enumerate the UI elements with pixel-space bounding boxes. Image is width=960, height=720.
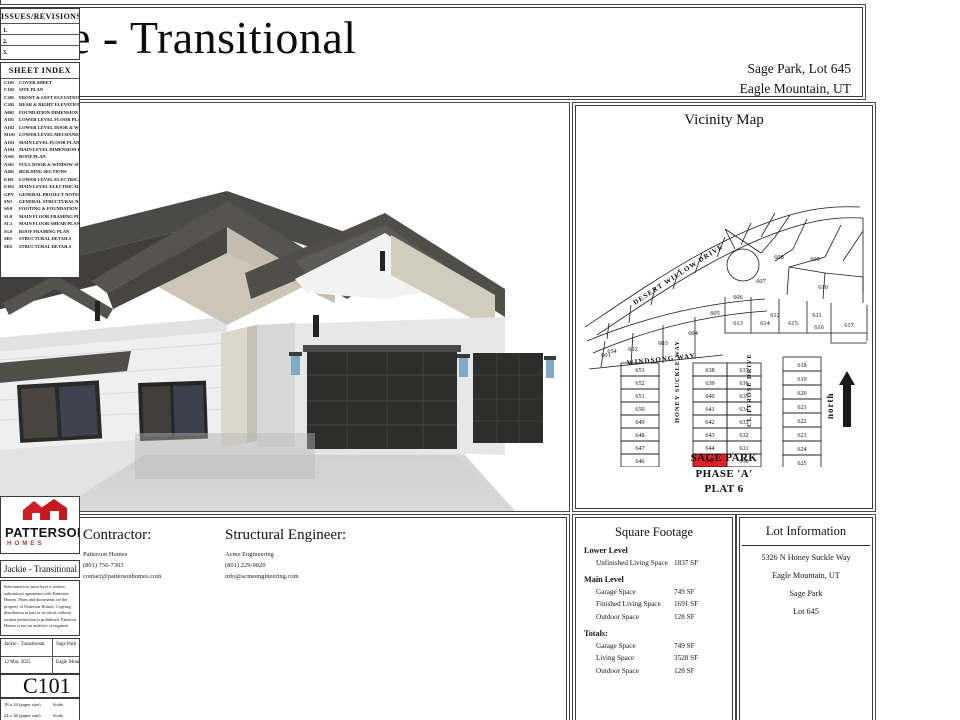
house-logo-icon — [7, 498, 79, 528]
sheet-index-name: SITE PLAN — [19, 86, 43, 93]
contractor-name: Patterson Homes — [83, 549, 161, 560]
lot-606: 606 — [733, 294, 743, 301]
lot-638: 638 — [705, 367, 714, 374]
sheet-index-rows: C101COVER SHEETC102SITE PLANC201FRONT & … — [1, 79, 79, 250]
lot-615: 615 — [788, 320, 798, 327]
sheet-index-row[interactable]: A301ROOF PLAN — [1, 153, 79, 160]
plan-name-box: Jackie - Transitional — [0, 560, 80, 578]
sqft-group-heading: Totals: — [584, 629, 726, 638]
sheet-index-code: C101 — [4, 79, 19, 86]
exterior-rendering-pane — [0, 102, 570, 512]
sheet-index-code: A401 — [4, 168, 19, 175]
street-label-honey-suckle: HONEY SUCKLE WAY — [674, 340, 681, 423]
sheet-index-name: MAIN LEVEL FLOOR PLAN — [19, 139, 79, 146]
lot-604: 604 — [688, 330, 698, 337]
sheet-index-name: MAIN LEVEL DIMENSION PLAN — [19, 146, 79, 153]
lot-information-pane: Lot Information 5326 N Honey Suckle WayE… — [736, 514, 876, 720]
lot-602: 602 — [628, 346, 638, 353]
engineer-name: Acme Engineering — [225, 549, 346, 560]
sqft-group-heading: Main Level — [584, 575, 726, 584]
meta-plan-label: Jackie - Transitional — [1, 639, 53, 656]
disclaimer-box: Subcontractors must have a writtensubcon… — [0, 580, 80, 636]
sheet-index-name: STRUCTURAL DETAILS — [19, 235, 71, 242]
sqft-row-label: Outdoor Space — [596, 666, 674, 678]
sqft-row-value: 3528 SF — [674, 653, 698, 665]
logo-wordmark: PATTERSON — [5, 525, 79, 540]
sheet-index-code: GPN — [4, 191, 19, 198]
sheet-index-row[interactable]: A101LOWER LEVEL FLOOR PLAN — [1, 116, 79, 123]
sqft-row: Living Space3528 SF — [596, 653, 726, 665]
paper-2-value: Scale — [53, 713, 63, 718]
street-label-cliffrose: CLIFFROSE DRIVE — [746, 353, 753, 427]
sheet-index-code: E102 — [4, 183, 19, 190]
sheet-index-row[interactable]: A104MAIN LEVEL DIMENSION PLAN — [1, 146, 79, 153]
sheet-index-name: LOWER LEVEL ELECTRICAL PLAN — [19, 176, 79, 183]
lot-info-line: 5326 N Honey Suckle Way — [737, 553, 875, 562]
plat-caption: SAGE PARK PHASE 'A' PLAT 6 — [573, 451, 875, 497]
engineer-phone: (801) 229-9020 — [225, 560, 346, 571]
house-rendering — [0, 103, 569, 511]
sqft-row-label: Unfinished Living Space — [596, 558, 674, 570]
lot-611: 611 — [812, 312, 821, 319]
sqft-row-label: Garage Space — [596, 587, 674, 599]
engineer-block: Structural Engineer: Acme Engineering (8… — [225, 527, 346, 582]
patterson-homes-logo: PATTERSON HOMES — [0, 496, 80, 554]
plat-caption-line3: PLAT 6 — [573, 482, 875, 497]
lot-info-line: Sage Park — [737, 589, 875, 598]
sheet-index-code: A361 — [4, 161, 19, 168]
revision-row[interactable]: 2. — [1, 34, 79, 45]
sheet-index-row[interactable]: E101LOWER LEVEL ELECTRICAL PLAN — [1, 176, 79, 183]
title-banner: Jackie - Transitional Sage Park, Lot 645… — [0, 4, 866, 100]
logo-submark: HOMES — [7, 540, 45, 547]
sheet-index-code: A001 — [4, 109, 19, 116]
sheet-index-row[interactable]: S1.1MAIN FLOOR SHEAR PLAN — [1, 220, 79, 227]
lot-608: 608 — [774, 254, 784, 261]
lot-634: 634 — [739, 406, 748, 413]
lot-603: 603 — [658, 340, 668, 347]
sheet-index-code: S0.0 — [4, 205, 19, 212]
sheet-number: C101 — [1, 675, 79, 697]
sqft-row-value: 749 SF — [674, 587, 695, 599]
sheet-index-name: MAIN FLOOR FRAMING PLAN — [19, 213, 79, 220]
sheet-index-code: S1.0 — [4, 213, 19, 220]
lot-633: 633 — [739, 419, 748, 426]
title-address: Sage Park, Lot 645 Eagle Mountain, UT — [740, 59, 851, 98]
issues-revisions-heading: ISSUES/REVISIONS — [1, 9, 79, 23]
disclaimer-line: distribution in part or in whole without — [4, 610, 76, 617]
sheet-index-row[interactable]: A401BUILDING SECTIONS — [1, 168, 79, 175]
lot-609: 609 — [810, 256, 820, 263]
sheet-index-name: GENERAL PROJECT NOTES — [19, 191, 79, 198]
sheet-index-row[interactable]: E102MAIN LEVEL ELECTRICAL PLAN — [1, 183, 79, 190]
sqft-row-label: Finished Living Space — [596, 599, 674, 611]
sheet-index-name: COVER SHEET — [19, 79, 52, 86]
contractor-email[interactable]: contact@pattersonhomes.com — [83, 571, 161, 582]
sheet-index-name: LOWER LEVEL FLOOR PLAN — [19, 116, 79, 123]
sheet-index-code: C102 — [4, 86, 19, 93]
lot-information-body: 5326 N Honey Suckle WayEagle Mountain, U… — [737, 553, 875, 616]
plat-caption-line1: SAGE PARK — [573, 451, 875, 466]
revision-number: 1. — [3, 28, 8, 34]
sqft-row-label: Garage Space — [596, 641, 674, 653]
title-address-line1: Sage Park, Lot 645 — [740, 59, 851, 79]
paper-size-box: 18 x 24 (paper size) Scale 24 x 36 (pape… — [0, 698, 80, 720]
sqft-row-value: 1837 SF — [674, 558, 698, 570]
disclaimer-line: Homes. Plans and documents are the — [4, 597, 76, 604]
revision-row[interactable]: 3. — [1, 45, 79, 56]
square-footage-pane: Square Footage Lower LevelUnfinished Liv… — [572, 514, 736, 720]
sheet-index-name: GENERAL STRUCTURAL NOTES — [19, 198, 79, 205]
sheet-index-code: SN1 — [4, 198, 19, 205]
paper-1-label: 18 x 24 (paper size) — [1, 702, 53, 707]
title-address-line2: Eagle Mountain, UT — [740, 79, 851, 99]
sheet-index-row[interactable]: GPNGENERAL PROJECT NOTES — [1, 191, 79, 198]
sheet-index-code: A104 — [4, 146, 19, 153]
sqft-row-value: 128 SF — [674, 666, 695, 678]
sqft-row: Garage Space749 SF — [596, 587, 726, 599]
engineer-heading: Structural Engineer: — [225, 527, 346, 544]
sheet-index-code: C202 — [4, 101, 19, 108]
sheet-index-code: A101 — [4, 116, 19, 123]
sheet-index-name: REAR & RIGHT ELEVATIONS — [19, 101, 79, 108]
street-label-windsong: WINDSONG WAY — [626, 352, 695, 367]
sqft-row-value: 128 SF — [674, 612, 695, 624]
engineer-email[interactable]: info@acmeengineering.com — [225, 571, 346, 582]
square-footage-body: Lower LevelUnfinished Living Space1837 S… — [582, 546, 726, 678]
sheet-index-row[interactable]: C102SITE PLAN — [1, 86, 79, 93]
paper-row-2: 24 x 36 (paper size) Scale — [1, 710, 79, 720]
sheet-index-code: M101 — [4, 131, 19, 138]
contacts-pane: Contractor: Patterson Homes (801) 756-73… — [0, 514, 570, 720]
lot-619: 619 — [797, 376, 806, 383]
sheet-index-code: A301 — [4, 153, 19, 160]
lot-653: 653 — [635, 367, 644, 374]
sheet-index-name: FRONT & LEFT ELEVATIONS — [19, 94, 79, 101]
sheet-index-row[interactable]: A102LOWER LEVEL DOOR & WINDOW — [1, 124, 79, 131]
sqft-group-heading: Lower Level — [584, 546, 726, 555]
lot-612: 612 — [770, 312, 780, 319]
lot-651: 651 — [635, 393, 644, 400]
sheet-index-row[interactable]: A361FULL DOOR & WINDOW SCHEDULE — [1, 161, 79, 168]
paper-2-label: 24 x 36 (paper size) — [1, 713, 53, 718]
north-label: north — [825, 392, 835, 419]
lot-649: 649 — [635, 419, 644, 426]
sheet-index-row[interactable]: SN1GENERAL STRUCTURAL NOTES — [1, 198, 79, 205]
sheet-index-code: SD1 — [4, 235, 19, 242]
issues-revisions-box: ISSUES/REVISIONS 1.2.3. — [0, 8, 80, 60]
lot-632: 632 — [739, 432, 748, 439]
lot-information-title: Lot Information — [742, 524, 870, 546]
sheet-index-name: ROOF FRAMING PLAN — [19, 228, 69, 235]
sheet-index-name: ROOF PLAN — [19, 153, 46, 160]
lot-637: 637 — [739, 367, 748, 374]
sqft-row: Outdoor Space128 SF — [596, 612, 726, 624]
plat-map: DESERT WILLOW DRIVE WINDSONG WAY HONEY S… — [575, 127, 875, 467]
sheet-index-code: A102 — [4, 124, 19, 131]
sheet-index-name: STRUCTURAL DETAILS — [19, 243, 71, 250]
lot-652: 652 — [635, 380, 644, 387]
sheet-meta-box: Jackie - Transitional Sage Park 12 May 2… — [0, 638, 80, 674]
contractor-heading: Contractor: — [83, 527, 161, 544]
meta-date: 12 May 2025 — [1, 657, 53, 674]
north-arrow: north — [825, 371, 855, 427]
sheet-index-row[interactable]: A103MAIN LEVEL FLOOR PLAN — [1, 139, 79, 146]
sheet-index-name: MAIN LEVEL ELECTRICAL PLAN — [19, 183, 79, 190]
sqft-row: Unfinished Living Space1837 SF — [596, 558, 726, 570]
sheet-index-row[interactable]: S3.0ROOF FRAMING PLAN — [1, 228, 79, 235]
meta-plan-value: Sage Park — [53, 639, 79, 656]
disclaimer-line: Homes is not an architect or engineer. — [4, 623, 76, 630]
lot-635: 635 — [739, 393, 748, 400]
lot-info-line: Lot 645 — [737, 607, 875, 616]
square-footage-title: Square Footage — [582, 525, 726, 540]
sheet-index-heading: SHEET INDEX — [1, 63, 79, 79]
issues-revisions-rows: 1.2.3. — [1, 23, 79, 56]
sqft-row-label: Outdoor Space — [596, 612, 674, 624]
lot-605: 605 — [710, 310, 720, 317]
lot-640: 640 — [705, 393, 714, 400]
cover-sheet: Jackie - Transitional Sage Park, Lot 645… — [0, 0, 960, 720]
sheet-index-row[interactable]: SD2STRUCTURAL DETAILS — [1, 243, 79, 250]
sheet-index-name: BUILDING SECTIONS — [19, 168, 67, 175]
sheet-index-name: MAIN FLOOR SHEAR PLAN — [19, 220, 79, 227]
lot-643: 643 — [705, 432, 714, 439]
lot-620: 620 — [797, 390, 806, 397]
lot-654: 654 — [607, 348, 616, 355]
sqft-row: Garage Space749 SF — [596, 641, 726, 653]
lot-636: 636 — [739, 380, 748, 387]
sheet-index-name: LOWER LEVEL MECHANICAL PLAN — [19, 131, 79, 138]
sheet-index-row[interactable]: M101LOWER LEVEL MECHANICAL PLAN — [1, 131, 79, 138]
lot-642: 642 — [705, 419, 714, 426]
sheet-index-box: SHEET INDEX C101COVER SHEETC102SITE PLAN… — [0, 62, 80, 278]
lot-621: 621 — [797, 404, 806, 411]
street-label-desert-willow: DESERT WILLOW DRIVE — [632, 242, 725, 306]
lot-616: 616 — [814, 324, 824, 331]
sheet-index-row[interactable]: S1.0MAIN FLOOR FRAMING PLAN — [1, 213, 79, 220]
contractor-block: Contractor: Patterson Homes (801) 756-73… — [83, 527, 161, 582]
lot-info-line: Eagle Mountain, UT — [737, 571, 875, 580]
sheet-index-row[interactable]: C202REAR & RIGHT ELEVATIONS — [1, 101, 79, 108]
sheet-index-row[interactable]: A001FOUNDATION DIMENSION PLAN — [1, 109, 79, 116]
sheet-index-row[interactable]: S0.0FOOTING & FOUNDATION PLAN — [1, 205, 79, 212]
sheet-number-box: C101 — [0, 674, 80, 698]
vicinity-map-pane: Vicinity Map — [572, 102, 876, 512]
sqft-row-value: 1691 SF — [674, 599, 698, 611]
lot-641: 641 — [705, 406, 714, 413]
sqft-row: Finished Living Space1691 SF — [596, 599, 726, 611]
sheet-index-code: E101 — [4, 176, 19, 183]
sheet-index-code: S3.0 — [4, 228, 19, 235]
plat-caption-line2: PHASE 'A' — [573, 467, 875, 482]
sheet-index-name: LOWER LEVEL DOOR & WINDOW — [19, 124, 79, 131]
lot-610: 610 — [818, 284, 828, 291]
meta-date-value: Eagle Mountain — [53, 657, 79, 674]
paper-row-1: 18 x 24 (paper size) Scale — [1, 699, 79, 710]
revision-number: 2. — [3, 39, 8, 45]
sqft-row-value: 749 SF — [674, 641, 695, 653]
paper-1-value: Scale — [53, 702, 63, 707]
sheet-index-code: C201 — [4, 94, 19, 101]
sqft-row: Outdoor Space128 SF — [596, 666, 726, 678]
sheet-index-name: FOOTING & FOUNDATION PLAN — [19, 205, 79, 212]
sheet-index-row[interactable]: C101COVER SHEET — [1, 79, 79, 86]
revision-number: 3. — [3, 50, 8, 56]
sheet-index-name: FOUNDATION DIMENSION PLAN — [19, 109, 79, 116]
lot-623: 623 — [797, 432, 806, 439]
lot-622: 622 — [797, 418, 806, 425]
sheet-index-name: FULL DOOR & WINDOW SCHEDULE — [19, 161, 79, 168]
contractor-phone: (801) 756-7303 — [83, 560, 161, 571]
plan-name-text: Jackie - Transitional — [1, 561, 79, 574]
lot-650: 650 — [635, 406, 644, 413]
sheet-index-code: A103 — [4, 139, 19, 146]
sheet-index-code: S1.1 — [4, 220, 19, 227]
sheet-index-row[interactable]: C201FRONT & LEFT ELEVATIONS — [1, 94, 79, 101]
sqft-row-label: Living Space — [596, 653, 674, 665]
sheet-index-code: SD2 — [4, 243, 19, 250]
lot-639: 639 — [705, 380, 714, 387]
lot-613: 613 — [733, 320, 743, 327]
lot-614: 614 — [760, 320, 770, 327]
lot-648: 648 — [635, 432, 644, 439]
revision-row[interactable]: 1. — [1, 23, 79, 34]
lot-617: 617 — [844, 322, 854, 329]
meta-row-plan: Jackie - Transitional Sage Park — [1, 639, 79, 657]
lot-618: 618 — [797, 362, 806, 369]
sheet-index-row[interactable]: SD1STRUCTURAL DETAILS — [1, 235, 79, 242]
lot-607: 607 — [756, 278, 766, 285]
